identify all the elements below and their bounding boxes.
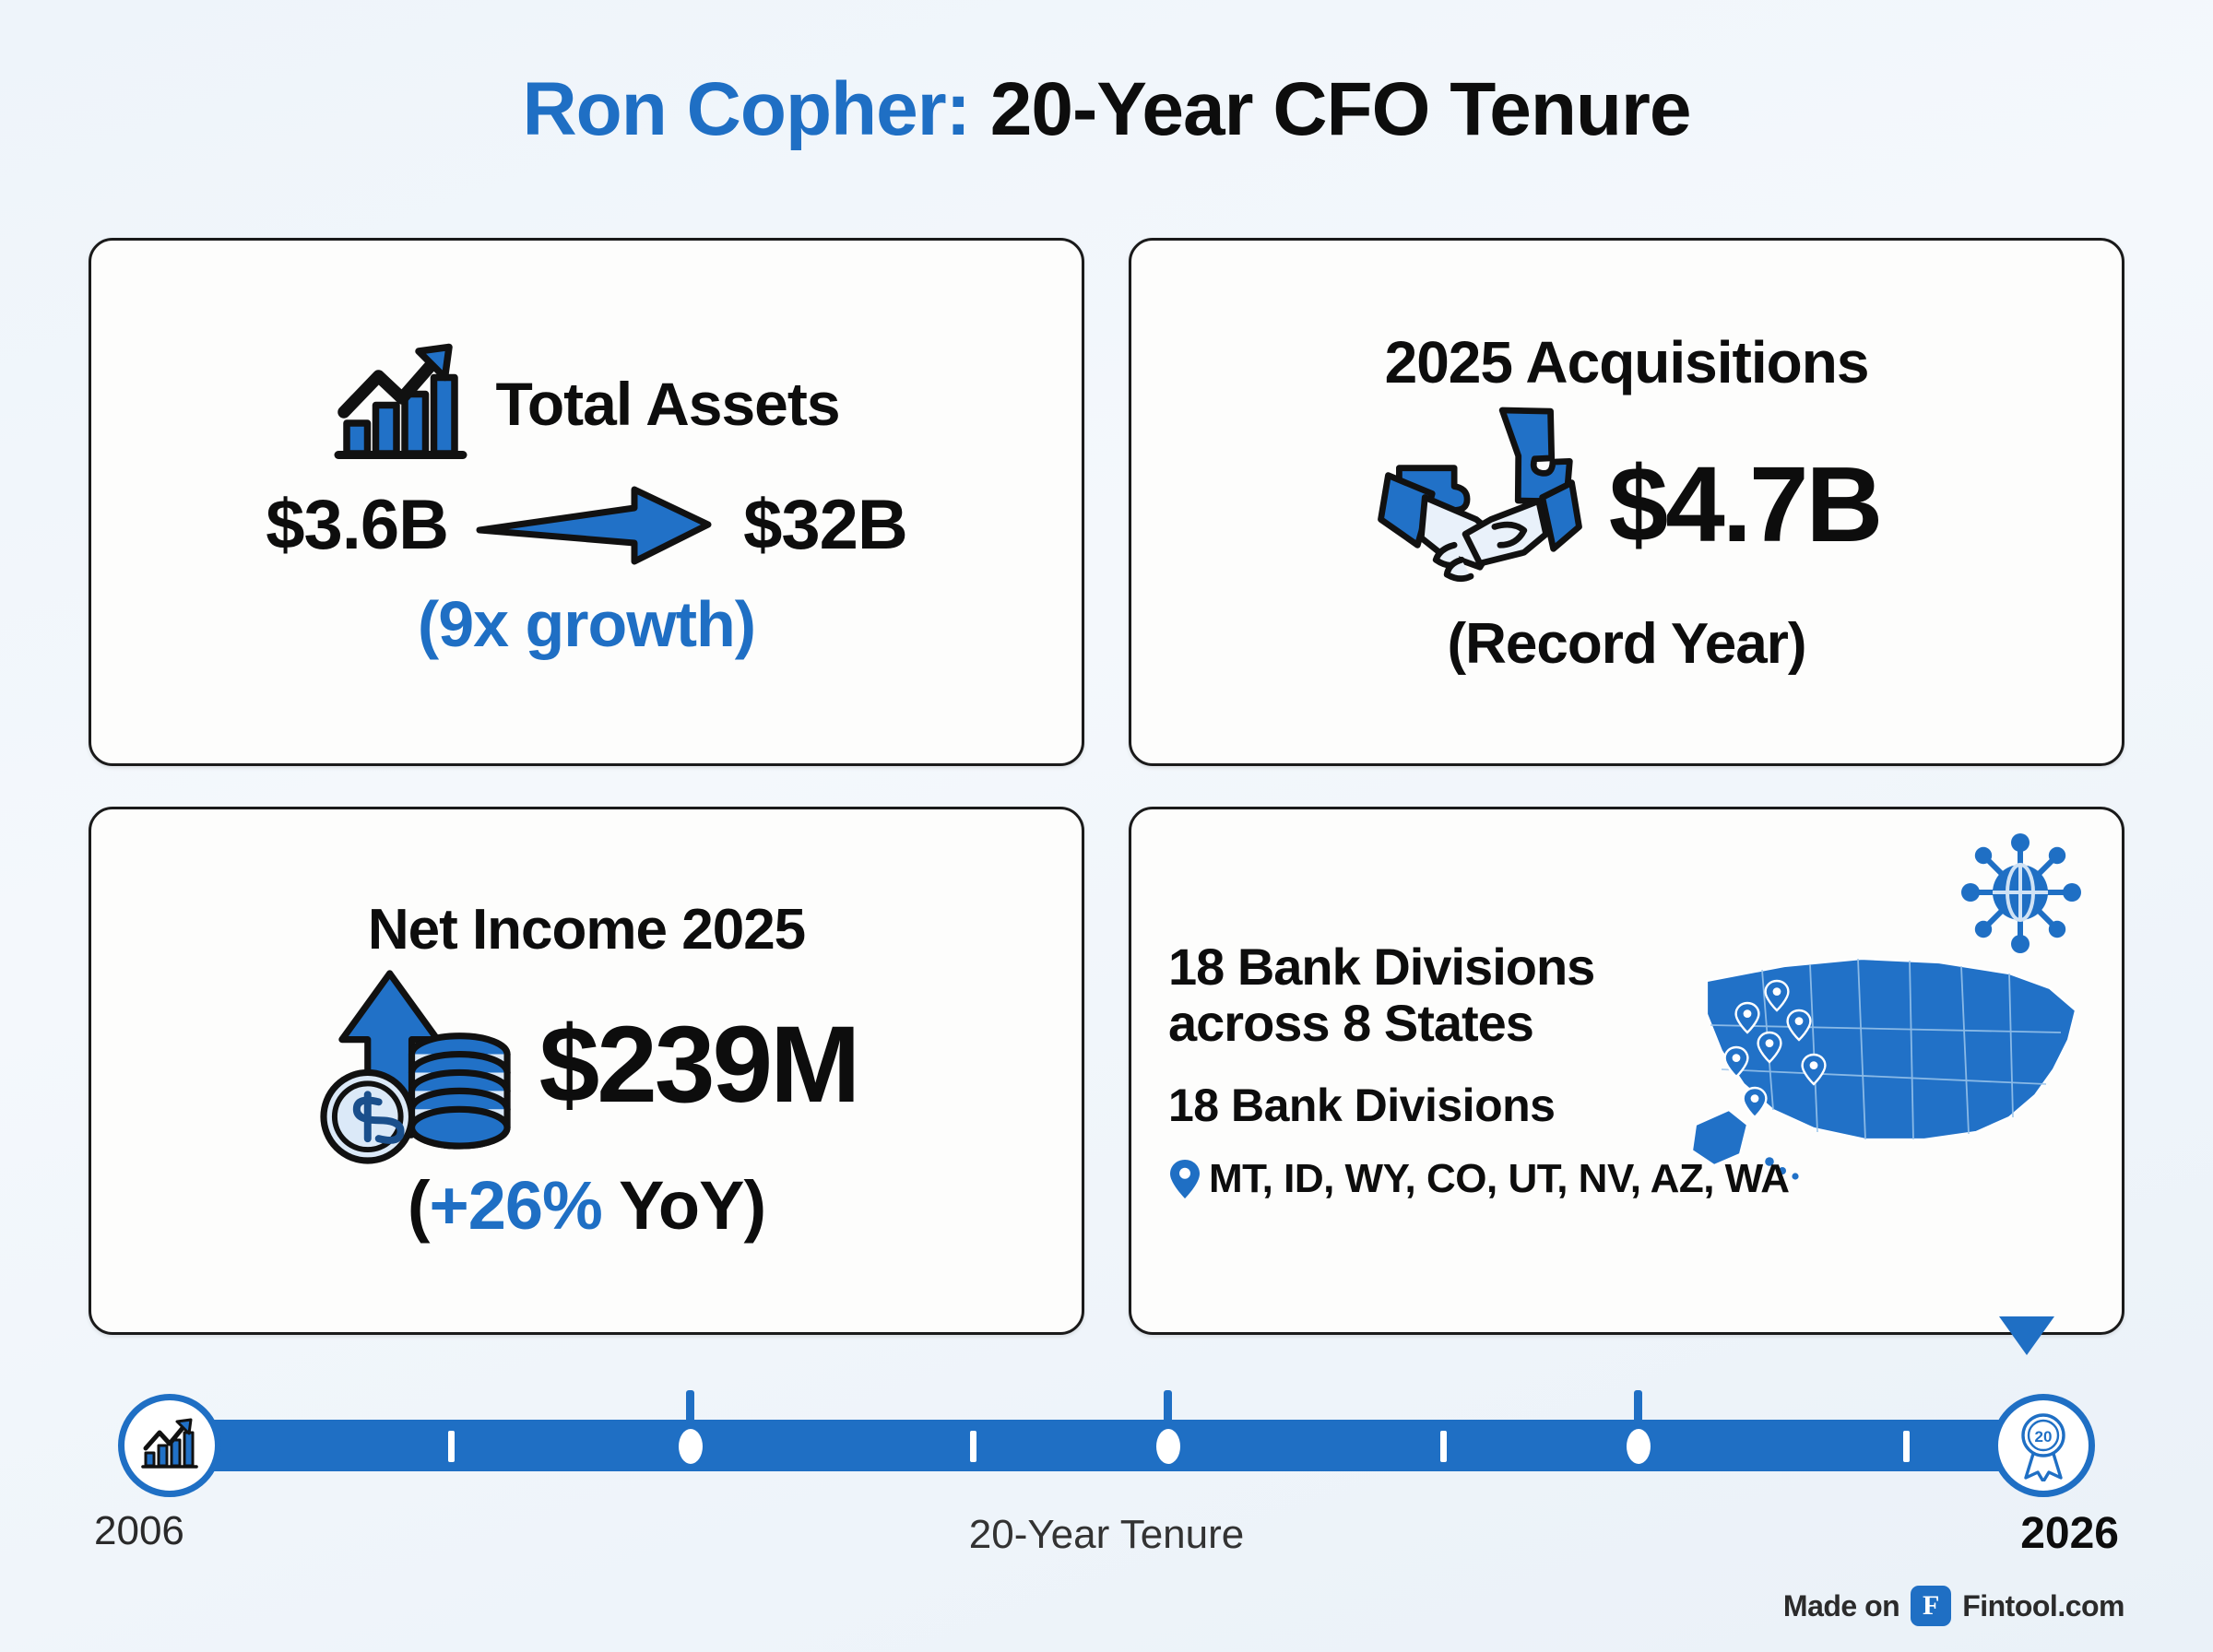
net-income-sub-open: ( [408, 1167, 430, 1244]
footer-made-on-label: Made on [1783, 1589, 1899, 1623]
timeline-tick [448, 1431, 455, 1462]
fintool-logo-icon: F [1911, 1586, 1951, 1626]
total-assets-start-value: $3.6B [266, 485, 448, 565]
card-net-income-title: Net Income 2025 [368, 897, 805, 962]
footer-attribution: Made on F Fintool.com [1783, 1586, 2124, 1626]
total-assets-end-value: $32B [743, 485, 907, 565]
arrow-up-coins-icon [315, 966, 523, 1164]
arrow-right-icon [476, 486, 716, 565]
divisions-heading-line2: across 8 States [1168, 996, 2085, 1051]
location-pin-icon [1168, 1158, 1201, 1200]
net-income-value: $239M [539, 1009, 858, 1122]
footer-brand-name[interactable]: Fintool.com [1962, 1589, 2124, 1623]
timeline-start-badge[interactable] [118, 1394, 221, 1497]
timeline-notch [1634, 1390, 1642, 1427]
page-title: Ron Copher: 20-Year CFO Tenure [0, 72, 2213, 147]
timeline-tick [1440, 1431, 1447, 1462]
chart-growth-badge-icon [139, 1418, 200, 1473]
timeline-center-label: 20-Year Tenure [89, 1512, 2124, 1558]
timeline-notch [1164, 1390, 1172, 1427]
card-total-assets-title: Total Assets [495, 369, 839, 439]
net-income-yoy-pct: +26% [430, 1167, 602, 1244]
timeline-tick [970, 1431, 976, 1462]
timeline-labels: 2006 20-Year Tenure 2026 [89, 1508, 2124, 1573]
timeline-bar [177, 1420, 2036, 1471]
divisions-states-list: MT, ID, WY, CO, UT, NV, AZ, WA [1209, 1156, 1790, 1202]
bar-chart-growth-icon [333, 343, 471, 465]
timeline-end-badge-label: 20 [2035, 1428, 2053, 1445]
net-income-sub-close: YoY) [602, 1167, 765, 1244]
timeline-milestone-dot [1627, 1429, 1651, 1464]
divisions-heading-line1: 18 Bank Divisions [1168, 939, 2085, 995]
acquisitions-subtitle: (Record Year) [1447, 611, 1805, 677]
card-acquisitions: 2025 Acquisitions [1129, 238, 2124, 766]
card-total-assets: Total Assets $3.6B $32B (9x growth) [89, 238, 1084, 766]
card-acquisitions-title: 2025 Acquisitions [1385, 328, 1869, 396]
timeline-tick [1903, 1431, 1910, 1462]
timeline-end-badge[interactable]: 20 [1992, 1394, 2095, 1497]
timeline-pointer-arrow [1999, 1316, 2054, 1355]
card-net-income: Net Income 2025 [89, 807, 1084, 1335]
timeline-milestone-dot [1156, 1429, 1180, 1464]
timeline-end-year: 2026 [2020, 1508, 2119, 1559]
timeline-milestone-dot [679, 1429, 703, 1464]
total-assets-growth: (9x growth) [418, 588, 755, 660]
tenure-timeline: 20 [89, 1383, 2124, 1503]
stats-card-grid: Total Assets $3.6B $32B (9x growth) 2025… [89, 238, 2124, 1335]
acquisitions-value: $4.7B [1609, 451, 1881, 558]
divisions-subtitle: 18 Bank Divisions [1168, 1079, 2085, 1132]
award-ribbon-icon: 20 [2011, 1410, 2076, 1481]
title-accent: Ron Copher: [522, 67, 969, 151]
title-main: 20-Year CFO Tenure [990, 67, 1691, 151]
card-bank-divisions: 18 Bank Divisions across 8 States 18 Ban… [1129, 807, 2124, 1335]
timeline-notch [686, 1390, 694, 1427]
puzzle-handshake-icon [1373, 406, 1585, 604]
